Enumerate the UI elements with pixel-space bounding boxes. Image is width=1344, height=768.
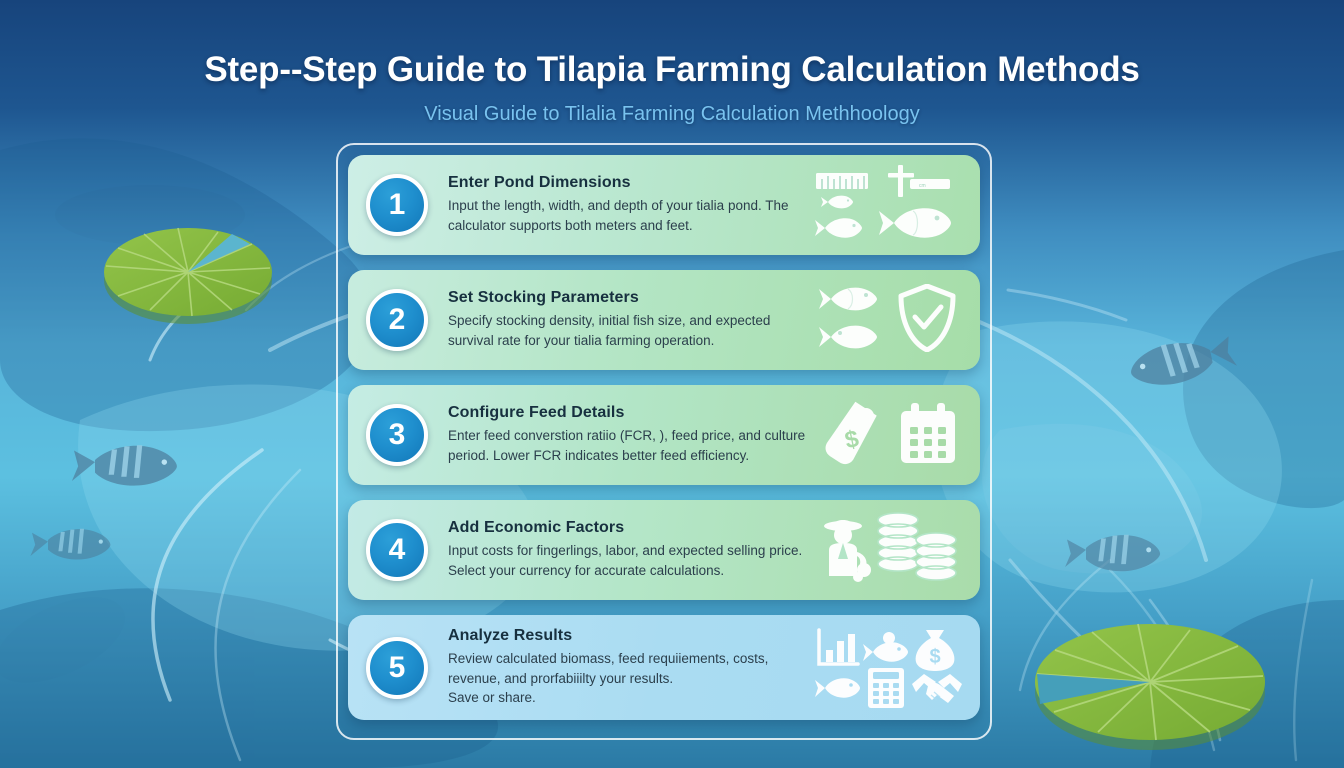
step-card-3[interactable]: 3 Configure Feed Details Enter feed conv… [348,385,980,485]
fish-icon [814,215,866,241]
step-description: Input costs for fingerlings, labor, and … [448,541,806,581]
ruler-icon [816,173,868,189]
page-header: Step--Step Guide to Tilapia Farming Calc… [0,0,1344,126]
fish-icon [877,203,955,243]
step-icon-cluster: $ [814,393,966,477]
step-icon-cluster: $ [814,626,966,710]
step-title: Set Stocking Parameters [448,289,806,307]
step-icon-cluster: cm [814,163,966,247]
step-icon-cluster [814,508,966,592]
calculator-icon [866,666,906,710]
step-title: Enter Pond Dimensions [448,174,806,192]
farmer-icon [816,514,876,582]
step-number-badge: 1 [366,174,428,236]
measuring-tape-icon: cm [886,165,952,199]
step-title: Configure Feed Details [448,404,806,422]
fish-icon [818,284,880,314]
step-title: Add Economic Factors [448,519,806,537]
step-body: Analyze Results Review calculated biomas… [428,627,814,709]
svg-text:cm: cm [919,183,926,189]
step-description: Enter feed converstion ratiio (FCR, ), f… [448,426,806,466]
step-card-1[interactable]: 1 Enter Pond Dimensions Input the length… [348,155,980,255]
step-card-5[interactable]: 5 Analyze Results Review calculated biom… [348,615,980,720]
coin-stack-icon [914,532,958,584]
fish-icon [814,672,862,704]
steps-list: 1 Enter Pond Dimensions Input the length… [348,155,980,720]
price-tag-icon: $ [822,401,884,467]
lily-pad [1035,624,1265,750]
lily-pad [104,228,272,324]
page-title: Step--Step Guide to Tilapia Farming Calc… [0,50,1344,90]
step-number-badge: 2 [366,289,428,351]
step-description: Input the length, width, and depth of yo… [448,196,806,236]
step-body: Enter Pond Dimensions Input the length, … [428,174,814,236]
bar-chart-icon [816,628,860,668]
step-body: Add Economic Factors Input costs for fin… [428,519,814,581]
shield-check-icon [898,284,956,352]
step-icon-cluster [814,278,966,362]
fish-icon [862,630,910,666]
step-body: Configure Feed Details Enter feed conver… [428,404,814,466]
step-card-4[interactable]: 4 Add Economic Factors Input costs for f… [348,500,980,600]
handshake-icon [910,670,964,708]
fish-icon [820,193,856,211]
svg-text:$: $ [929,646,940,668]
step-number-badge: 5 [366,637,428,699]
page-subtitle: Visual Guide to Tilalia Farming Calculat… [0,103,1344,126]
step-description: Review calculated biomass, feed requiiem… [448,649,806,709]
step-number-badge: 3 [366,404,428,466]
calendar-icon [898,401,958,465]
money-bag-icon: $ [912,628,958,672]
fish-icon [818,322,880,352]
step-card-2[interactable]: 2 Set Stocking Parameters Specify stocki… [348,270,980,370]
step-number-badge: 4 [366,519,428,581]
step-title: Analyze Results [448,627,806,645]
step-body: Set Stocking Parameters Specify stocking… [428,289,814,351]
step-description: Specify stocking density, initial fish s… [448,311,806,351]
